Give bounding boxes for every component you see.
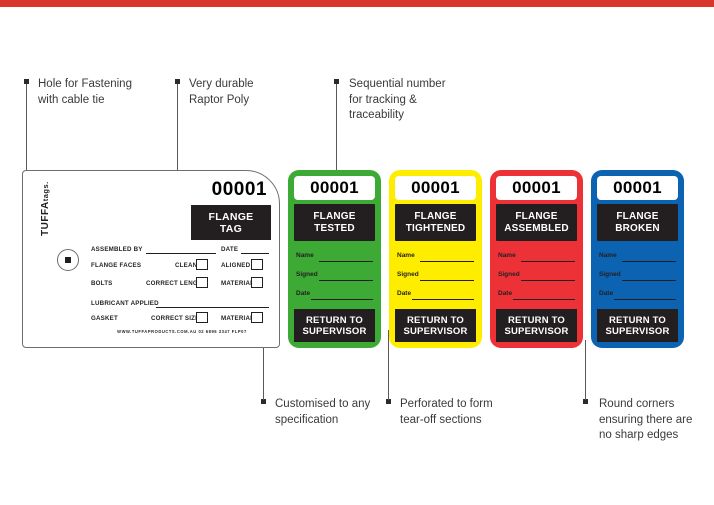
red-return-line-2: SUPERVISOR (504, 326, 568, 337)
form-row-assembled-by: ASSEMBLED BY DATE (91, 243, 269, 258)
yellow-label-name: Name (397, 252, 415, 259)
yellow-return-line-1: RETURN TO (407, 315, 464, 326)
blue-field-name[interactable]: Name (599, 250, 676, 269)
colour-tag-yellow[interactable]: 00001 FLANGE TIGHTENED Name Signed Date … (389, 170, 482, 348)
callout-perforated-line-1: Perforated to form (400, 397, 493, 413)
green-rule-signed (319, 279, 373, 281)
blue-label-date: Date (599, 290, 613, 297)
blue-serial-band: 00001 (597, 176, 678, 200)
label-gasket: GASKET (91, 315, 118, 322)
red-serial: 00001 (512, 178, 561, 198)
green-title-box: FLANGE TESTED (294, 204, 375, 241)
yellow-rule-name (420, 260, 474, 262)
blue-title-box: FLANGE BROKEN (597, 204, 678, 241)
callout-hole-line-1: Hole for Fastening (38, 77, 132, 93)
blue-field-signed[interactable]: Signed (599, 269, 676, 288)
hole-center-dot (65, 257, 71, 263)
colour-tag-green[interactable]: 00001 FLANGE TESTED Name Signed Date RET… (288, 170, 381, 348)
callout-customised: Customised to any specification (275, 397, 370, 428)
white-tag-title-line-2: TAG (220, 223, 242, 235)
callout-customised-line-1: Customised to any (275, 397, 370, 413)
blue-rule-date (614, 298, 676, 300)
yellow-return-box: RETURN TO SUPERVISOR (395, 309, 476, 342)
red-return-box: RETURN TO SUPERVISOR (496, 309, 577, 342)
red-fields: Name Signed Date (498, 250, 575, 307)
yellow-return-line-2: SUPERVISOR (403, 326, 467, 337)
checkbox-material-2[interactable] (251, 312, 263, 323)
tuffa-logo: TUFFAtags. (40, 181, 51, 236)
callout-leader-round (585, 340, 586, 400)
yellow-label-signed: Signed (397, 271, 419, 278)
red-label-date: Date (498, 290, 512, 297)
colour-tag-blue[interactable]: 00001 FLANGE BROKEN Name Signed Date RET… (591, 170, 684, 348)
accent-bar (0, 0, 714, 7)
callout-round-line-2: ensuring there are (599, 413, 692, 429)
green-return-box: RETURN TO SUPERVISOR (294, 309, 375, 342)
red-field-date[interactable]: Date (498, 288, 575, 307)
yellow-serial: 00001 (411, 178, 460, 198)
green-title-line-1: FLANGE (313, 211, 355, 223)
green-rule-date (311, 298, 373, 300)
green-rule-name (319, 260, 373, 262)
red-field-signed[interactable]: Signed (498, 269, 575, 288)
form-row-gasket: GASKET CORRECT SIZE MATERIAL (91, 311, 269, 329)
blue-fields: Name Signed Date (599, 250, 676, 307)
checkbox-correct-length[interactable] (196, 277, 208, 288)
label-aligned: ALIGNED (221, 262, 250, 269)
form-row-lubricant: LUBRICANT APPLIED (91, 294, 269, 311)
green-field-signed[interactable]: Signed (296, 269, 373, 288)
callout-sequential-line-2: for tracking & (349, 93, 446, 109)
yellow-rule-signed (420, 279, 474, 281)
rule-assembled-by (146, 252, 216, 254)
green-return-line-2: SUPERVISOR (302, 326, 366, 337)
green-label-date: Date (296, 290, 310, 297)
callout-sequential-line-1: Sequential number (349, 77, 446, 93)
diagram-canvas: Hole for Fastening with cable tie Very d… (0, 0, 714, 505)
yellow-rule-date (412, 298, 474, 300)
callout-material-line-1: Very durable (189, 77, 254, 93)
callout-round: Round corners ensuring there are no shar… (599, 397, 692, 444)
white-tag-fineprint: WWW.TUFFAPRODUCTS.COM.AU 02 6895 3347 FL… (87, 329, 277, 334)
tuffa-logo-sub: tags. (41, 181, 50, 201)
yellow-title-box: FLANGE TIGHTENED (395, 204, 476, 241)
checkbox-material-1[interactable] (251, 277, 263, 288)
checkbox-clean[interactable] (196, 259, 208, 270)
blue-field-date[interactable]: Date (599, 288, 676, 307)
callout-hole-line-2: with cable tie (38, 93, 132, 109)
green-serial-band: 00001 (294, 176, 375, 200)
white-tag-title-line-1: FLANGE (209, 211, 254, 223)
yellow-field-name[interactable]: Name (397, 250, 474, 269)
green-field-date[interactable]: Date (296, 288, 373, 307)
red-field-name[interactable]: Name (498, 250, 575, 269)
red-title-box: FLANGE ASSEMBLED (496, 204, 577, 241)
callout-sequential-line-3: traceability (349, 108, 446, 124)
form-row-bolts: BOLTS CORRECT LENGTH MATERIAL (91, 276, 269, 294)
callout-hole: Hole for Fastening with cable tie (38, 77, 132, 108)
red-rule-date (513, 298, 575, 300)
green-label-name: Name (296, 252, 314, 259)
callout-customised-line-2: specification (275, 413, 370, 429)
yellow-label-date: Date (397, 290, 411, 297)
green-field-name[interactable]: Name (296, 250, 373, 269)
blue-rule-signed (622, 279, 676, 281)
callout-round-line-3: no sharp edges (599, 428, 692, 444)
green-title-line-2: TESTED (314, 223, 355, 235)
green-return-line-1: RETURN TO (306, 315, 363, 326)
label-lubricant-applied: LUBRICANT APPLIED (91, 300, 159, 307)
red-title-line-2: ASSEMBLED (504, 223, 569, 235)
blue-title-line-2: BROKEN (615, 223, 660, 235)
label-bolts: BOLTS (91, 280, 113, 287)
label-assembled-by: ASSEMBLED BY (91, 246, 143, 253)
blue-return-line-1: RETURN TO (609, 315, 666, 326)
blue-return-box: RETURN TO SUPERVISOR (597, 309, 678, 342)
label-flange-faces: FLANGE FACES (91, 262, 141, 269)
red-label-signed: Signed (498, 271, 520, 278)
yellow-field-date[interactable]: Date (397, 288, 474, 307)
yellow-field-signed[interactable]: Signed (397, 269, 474, 288)
label-clean: CLEAN (175, 262, 197, 269)
label-material-2: MATERIAL (221, 315, 254, 322)
callout-leader-sequential (336, 84, 337, 184)
yellow-title-line-1: FLANGE (414, 211, 456, 223)
callout-perforated-line-2: tear-off sections (400, 413, 493, 429)
yellow-fields: Name Signed Date (397, 250, 474, 307)
yellow-title-line-2: TIGHTENED (406, 223, 466, 235)
white-flange-tag[interactable]: 00001 FLANGE TAG TUFFAtags. ASSEMBLED BY… (22, 170, 280, 348)
white-tag-title-box: FLANGE TAG (191, 205, 271, 240)
red-title-line-1: FLANGE (515, 211, 557, 223)
checkbox-correct-size[interactable] (196, 312, 208, 323)
blue-serial: 00001 (613, 178, 662, 198)
green-serial: 00001 (310, 178, 359, 198)
blue-return-line-2: SUPERVISOR (605, 326, 669, 337)
blue-label-signed: Signed (599, 271, 621, 278)
callout-material: Very durable Raptor Poly (189, 77, 254, 108)
red-label-name: Name (498, 252, 516, 259)
form-row-flange-faces: FLANGE FACES CLEAN ALIGNED (91, 258, 269, 276)
callout-perforated: Perforated to form tear-off sections (400, 397, 493, 428)
callout-round-line-1: Round corners (599, 397, 692, 413)
red-rule-signed (521, 279, 575, 281)
red-rule-name (521, 260, 575, 262)
white-tag-form: ASSEMBLED BY DATE FLANGE FACES CLEAN ALI… (91, 243, 269, 329)
green-label-signed: Signed (296, 271, 318, 278)
callout-material-line-2: Raptor Poly (189, 93, 254, 109)
yellow-serial-band: 00001 (395, 176, 476, 200)
colour-tag-red[interactable]: 00001 FLANGE ASSEMBLED Name Signed Date … (490, 170, 583, 348)
blue-label-name: Name (599, 252, 617, 259)
rule-date (241, 252, 269, 254)
green-fields: Name Signed Date (296, 250, 373, 307)
red-serial-band: 00001 (496, 176, 577, 200)
blue-rule-name (622, 260, 676, 262)
cable-tie-hole-icon (57, 249, 79, 271)
red-return-line-1: RETURN TO (508, 315, 565, 326)
label-material-1: MATERIAL (221, 280, 254, 287)
checkbox-aligned[interactable] (251, 259, 263, 270)
label-date: DATE (221, 246, 238, 253)
label-correct-size: CORRECT SIZE (151, 315, 199, 322)
callout-sequential: Sequential number for tracking & traceab… (349, 77, 446, 124)
blue-title-line-1: FLANGE (616, 211, 658, 223)
white-tag-serial: 00001 (212, 179, 267, 201)
rule-lubricant (156, 306, 269, 308)
tuffa-logo-name: TUFFA (40, 201, 51, 236)
